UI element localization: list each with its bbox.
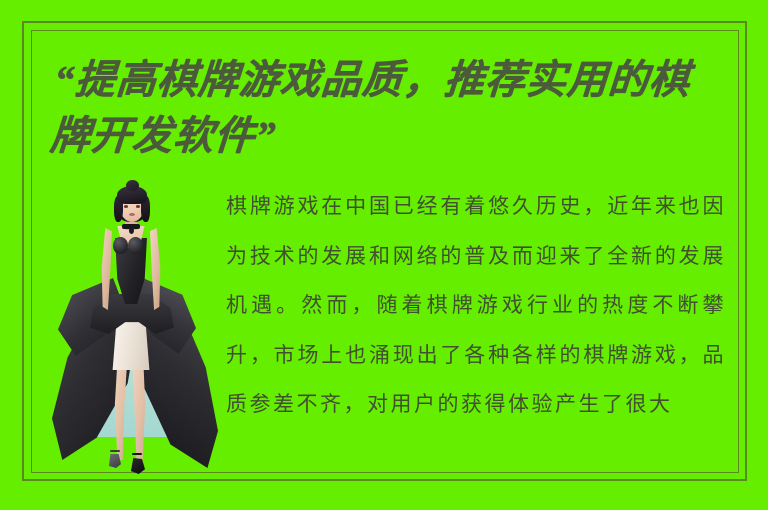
shoe-left [108,454,121,468]
bodice-cup-right [128,237,143,254]
poster-canvas: “提高棋牌游戏品质，推荐实用的棋牌开发软件” 棋牌游戏在中国已经有着悠 [0,0,768,510]
ankle-strap-right [132,453,142,455]
poster-title: “提高棋牌游戏品质，推荐实用的棋牌开发软件” [48,52,726,164]
poster-body-text: 棋牌游戏在中国已经有着悠久历史，近年来也因为技术的发展和网络的普及而迎来了全新的… [226,182,726,430]
bodice-cup-left [113,237,128,254]
eye-left [124,205,128,208]
choker-pendant [129,227,134,234]
character-illustration [56,182,206,472]
eye-right [136,205,140,208]
lips [129,213,135,216]
hair-bun [126,180,139,191]
shoe-right [130,458,145,474]
ankle-strap-left [110,450,120,452]
